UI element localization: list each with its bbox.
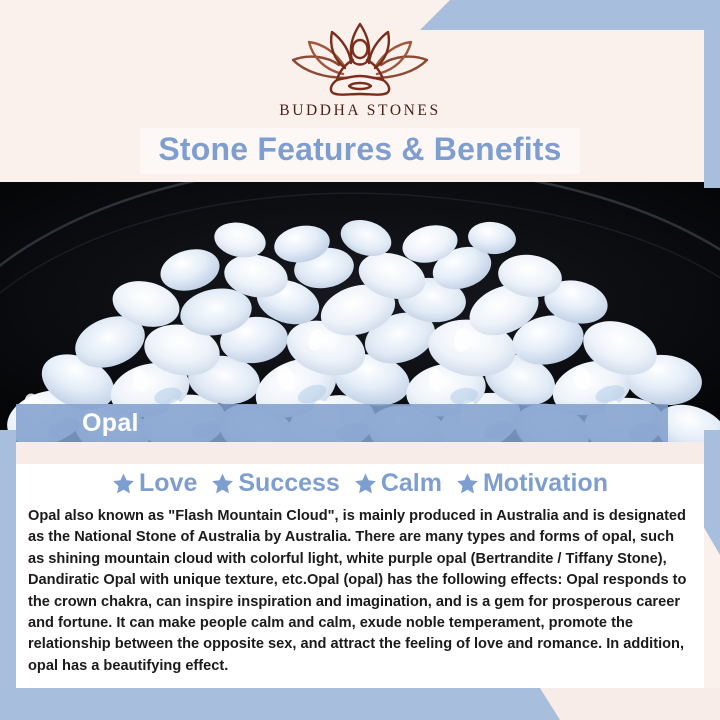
frame-accent-left	[0, 430, 16, 694]
photo-illustration	[0, 182, 720, 442]
frame-accent-right	[704, 0, 720, 188]
frame-accent-top-right	[420, 0, 720, 30]
benefit-item-love: Love	[112, 466, 197, 500]
benefit-label: Success	[238, 466, 339, 500]
brand-name: BUDDHA STONES	[0, 102, 720, 120]
benefit-item-calm: Calm	[354, 466, 442, 500]
benefit-label: Calm	[381, 466, 442, 500]
page-title: Stone Features & Benefits	[0, 126, 720, 172]
benefits-list: Love Success Calm Motivation	[0, 466, 720, 500]
lotus-meditation-icon	[275, 16, 445, 100]
divider-strip	[16, 442, 704, 464]
opal-tumbled-stones-photo	[0, 182, 720, 442]
benefit-label: Love	[139, 466, 197, 500]
stone-description: Opal also known as "Flash Mountain Cloud…	[28, 506, 692, 677]
star-icon	[211, 472, 234, 495]
benefit-label: Motivation	[483, 466, 608, 500]
stone-info-poster: BUDDHA STONES Stone Features & Benefits	[0, 0, 720, 720]
star-icon	[112, 472, 135, 495]
benefit-item-success: Success	[211, 466, 339, 500]
benefit-item-motivation: Motivation	[456, 466, 608, 500]
stone-name: Opal	[82, 404, 139, 442]
star-icon	[354, 472, 377, 495]
brand-logo: BUDDHA STONES	[0, 16, 720, 120]
star-icon	[456, 472, 479, 495]
frame-corner-bottom-right	[540, 688, 720, 720]
frame-accent-right-lower	[704, 430, 720, 555]
